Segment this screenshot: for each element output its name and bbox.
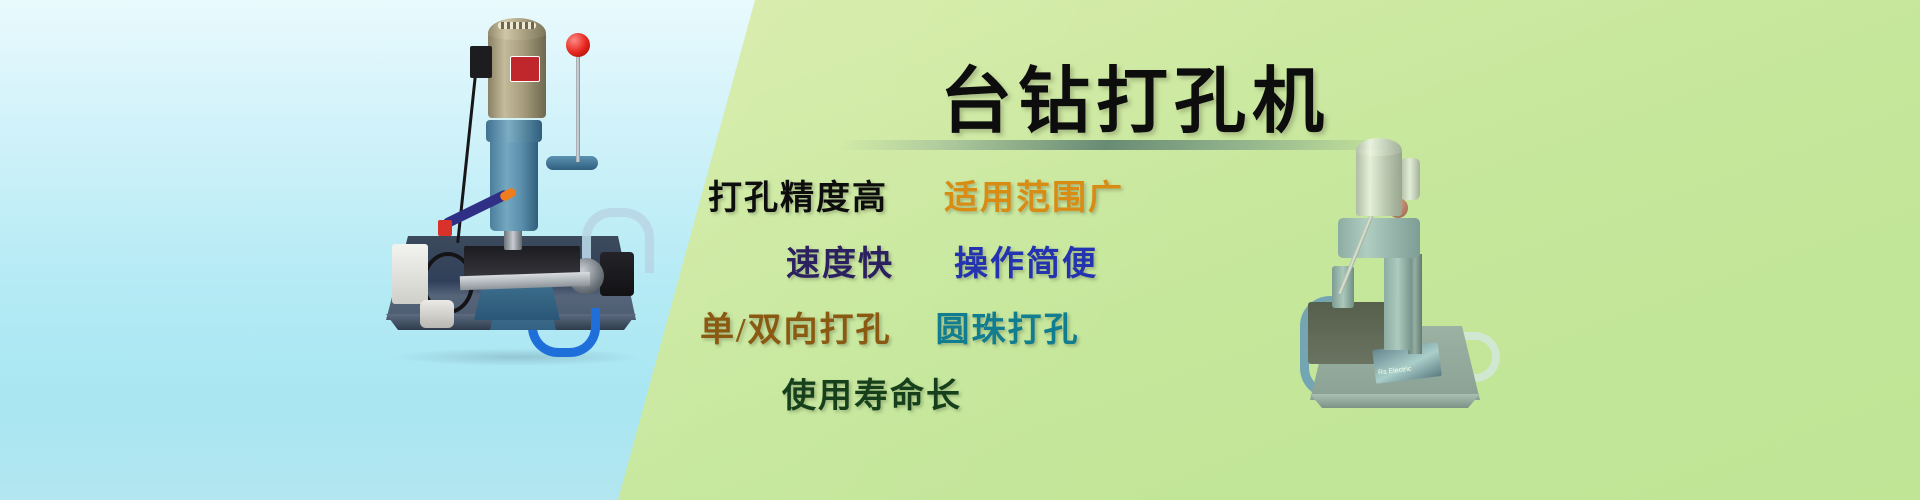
foot-pedal [420,300,454,328]
feed-lever-knob [566,33,590,57]
feature-item-6: 圆珠打孔 [935,302,1079,351]
feature-item-3: 速度快 [786,236,894,285]
machine-head-collar [486,120,542,142]
product-image-right: Rs Electric [1300,136,1490,436]
right-machine-head [1338,218,1420,258]
feature-row-1: 打孔精度高 适用范围广 [708,170,1124,219]
banner-title: 台钻打孔机 [940,42,1330,147]
motor-vent [498,22,536,29]
feature-row-4: 使用寿命长 [782,368,962,417]
right-capacitor [1400,158,1420,200]
feature-item-2: 适用范围广 [944,170,1124,219]
promo-banner: 台钻打孔机 打孔精度高 适用范围广 速度快 操作简便 单/双向打孔 圆珠打孔 使… [0,0,1920,500]
motor-nameplate [510,56,540,82]
feature-item-4: 操作简便 [954,236,1098,285]
right-motor-cap [1356,138,1402,156]
machine-vise-bed [474,286,560,320]
feature-row-3: 单/双向打孔 圆珠打孔 [700,302,1079,351]
product-image-left [378,8,648,358]
feature-list: 打孔精度高 适用范围广 速度快 操作简便 单/双向打孔 圆珠打孔 使用寿命长 [618,170,1318,430]
feature-item-5: 单/双向打孔 [700,302,891,351]
feature-item-1: 打孔精度高 [708,170,888,219]
right-base-edge [1310,394,1480,408]
machine-vise [464,246,580,276]
control-box [392,244,428,304]
junction-box [470,46,492,78]
feature-row-2: 速度快 操作简便 [786,236,1098,285]
feature-item-7: 使用寿命长 [782,368,962,417]
feed-lever-rod [576,50,580,162]
lever-hub [546,156,598,170]
red-clip [438,220,452,236]
